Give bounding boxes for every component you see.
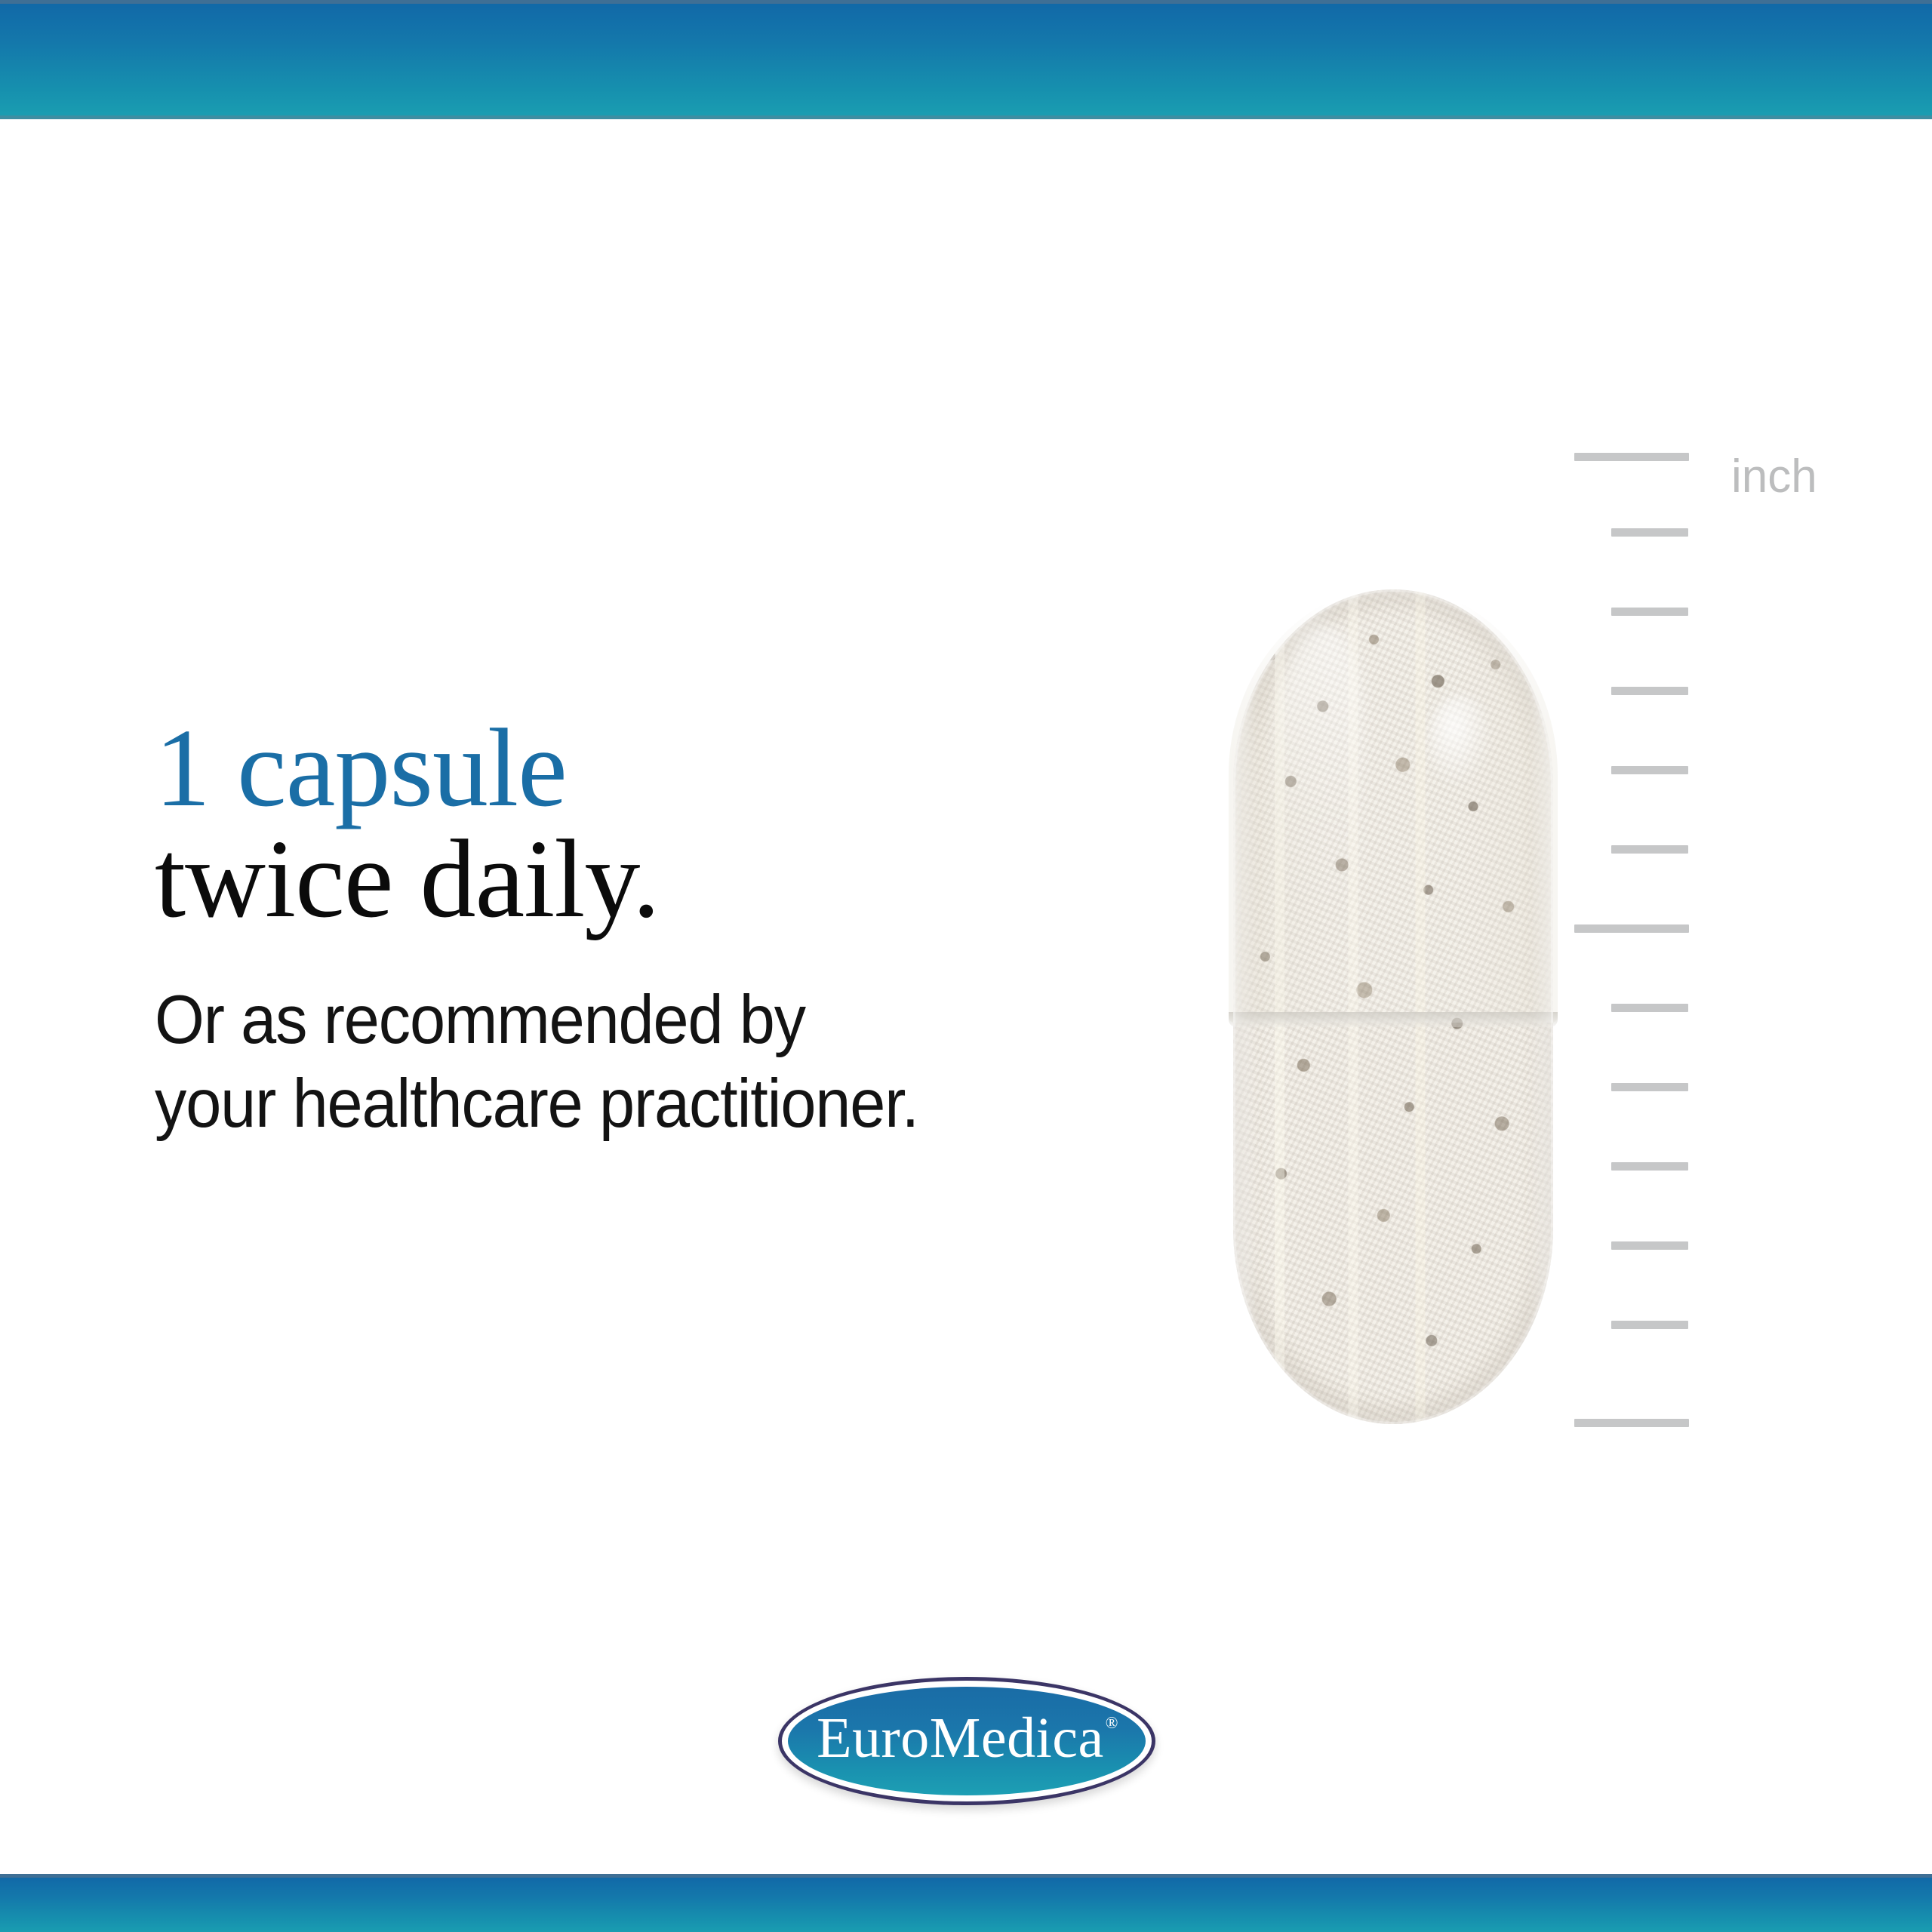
capsule-body	[1233, 589, 1553, 1424]
logo-brand-name: EuroMedica	[817, 1706, 1104, 1770]
top-banner	[0, 0, 1932, 119]
registered-trademark-icon: ®	[1106, 1713, 1118, 1732]
ruler-tick-minor	[1611, 528, 1688, 537]
ruler-tick-minor	[1611, 1004, 1688, 1012]
dosage-headline: 1 capsule twice daily.	[155, 713, 1121, 934]
dosage-subcopy: Or as recommended by your healthcare pra…	[155, 934, 1053, 1146]
ruler-tick-minor	[1611, 1241, 1688, 1250]
product-dosage-panel: 1 capsule twice daily. Or as recommended…	[0, 0, 1932, 1932]
bottom-banner	[0, 1874, 1932, 1932]
ruler-tick-minor	[1611, 845, 1688, 854]
logo-face: EuroMedica®	[788, 1687, 1146, 1795]
logo-wordmark: EuroMedica®	[817, 1709, 1117, 1767]
headline-line-2: twice daily.	[155, 824, 1121, 935]
ruler-tick-major	[1574, 453, 1689, 461]
ruler-tick-major	[1574, 1419, 1689, 1427]
capsule-image	[1233, 589, 1553, 1424]
ruler-tick-major	[1574, 924, 1689, 933]
ruler-unit-label: inch	[1731, 454, 1817, 500]
ruler-tick-minor	[1611, 766, 1688, 774]
ruler-tick-minor	[1611, 1321, 1688, 1329]
ruler-tick-minor	[1611, 1083, 1688, 1091]
capsule-glass-streaks	[1233, 589, 1553, 1424]
dosage-copy-block: 1 capsule twice daily. Or as recommended…	[155, 713, 1121, 1146]
ruler-tick-minor	[1611, 687, 1688, 695]
subcopy-line-1: Or as recommended by	[155, 978, 1053, 1062]
ruler-tick-minor	[1611, 608, 1688, 616]
subcopy-line-2: your healthcare practitioner.	[155, 1062, 1053, 1146]
headline-line-1: 1 capsule	[155, 713, 1121, 824]
inch-ruler	[1574, 453, 1689, 1426]
ruler-tick-minor	[1611, 1162, 1688, 1171]
euromedica-logo: EuroMedica®	[778, 1677, 1155, 1805]
